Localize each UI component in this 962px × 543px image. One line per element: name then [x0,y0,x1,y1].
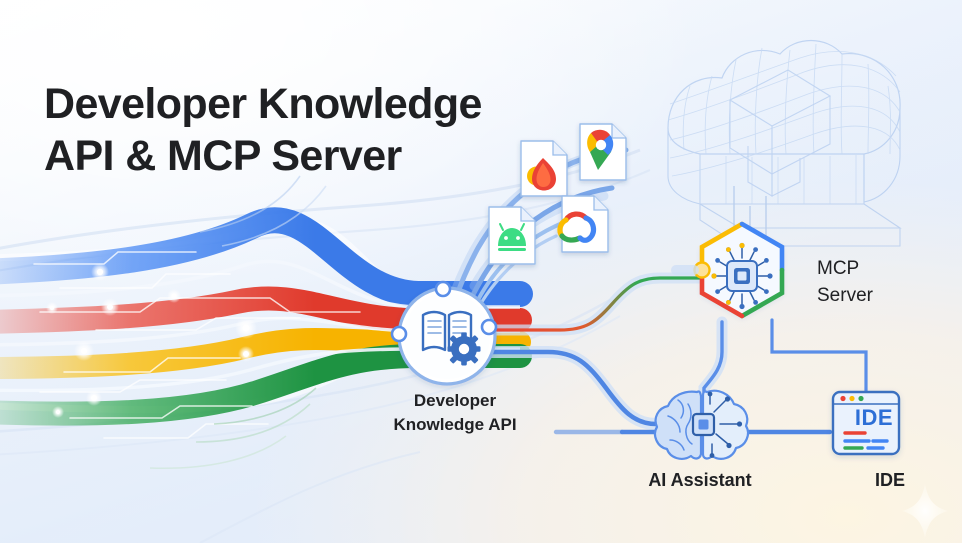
window-traffic-lights [840,396,863,401]
api-left-connector-dot [392,327,406,341]
developer-knowledge-api-label: Developer Knowledge API [330,389,580,437]
ide-label: IDE [820,468,960,492]
link-mcp-to-ide [772,320,866,396]
google-cloud-card[interactable] [560,196,608,252]
page-title: Developer Knowledge API & MCP Server [44,78,482,182]
android-card[interactable] [489,207,535,264]
ai-assistant-node[interactable] [655,391,748,459]
ai-assistant-label: AI Assistant [600,468,800,492]
google-maps-card[interactable] [580,124,626,180]
ide-window-text: IDE [843,405,905,431]
gear-icon [448,333,481,366]
mcp-server-label: MCP Server [817,255,957,309]
api-top-connector-dot [436,282,450,296]
api-right-connector-dot [482,320,496,334]
four-point-sparkle-icon [902,484,948,538]
diagram-canvas: Developer Knowledge API & MCP Server Dev… [0,0,962,543]
mcp-server-node[interactable] [676,224,782,316]
isometric-cloud-wireframe-icon [668,41,900,247]
firebase-card[interactable] [521,141,567,196]
